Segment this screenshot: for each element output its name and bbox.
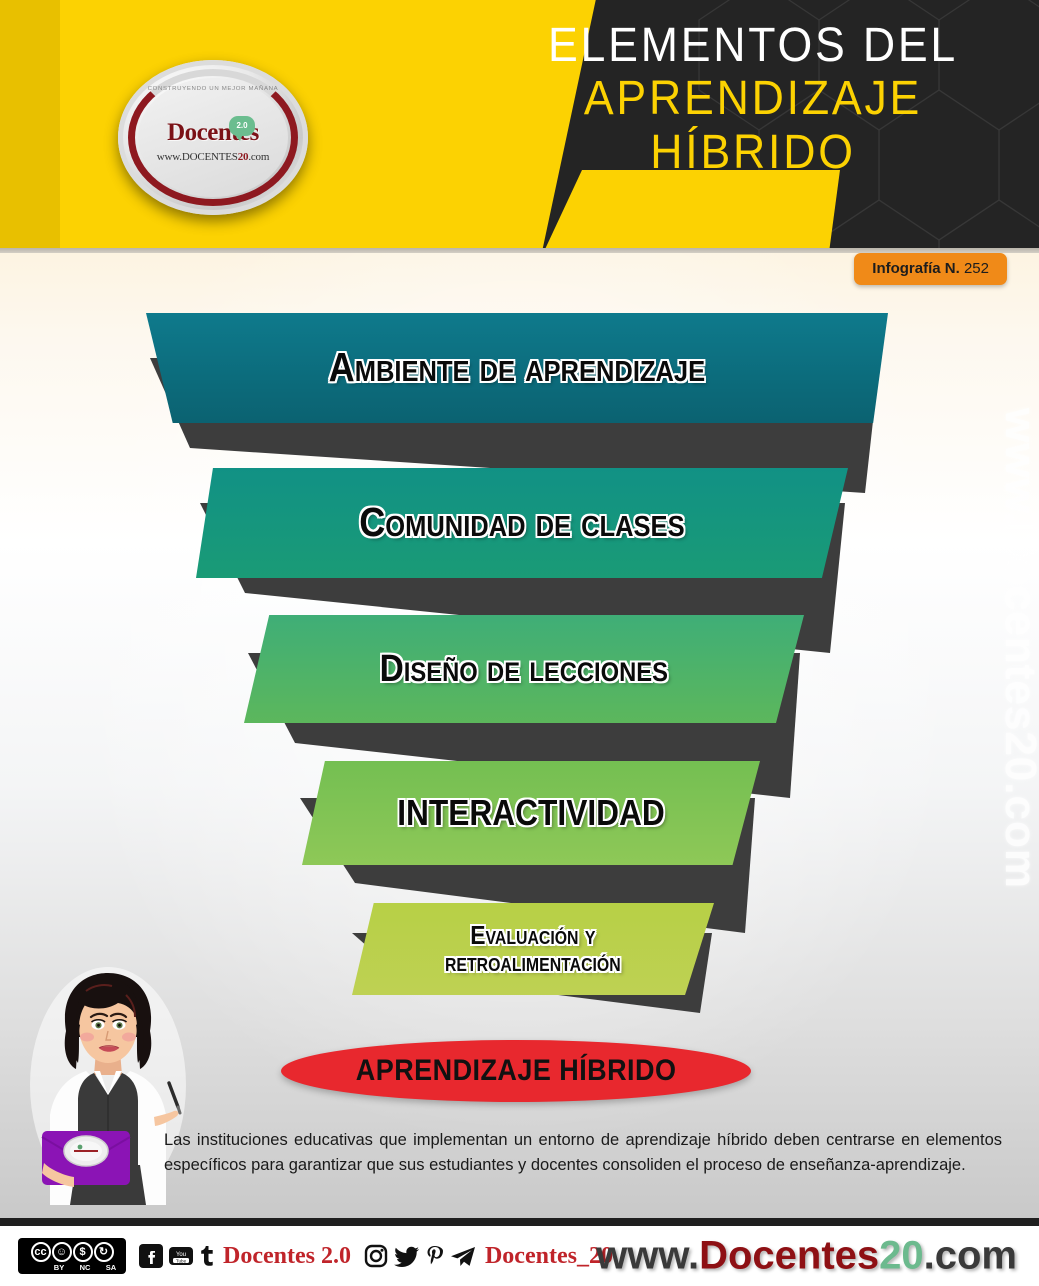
funnel-step-5-label: Evaluación y retroalimentación [445, 922, 621, 975]
cc-label-by: BY [49, 1263, 69, 1272]
logo-url-suffix: .com [248, 151, 269, 163]
footer-divider [0, 1218, 1039, 1226]
footer: cc ☺ $ ↻ BY NC SA YouTube Docentes [0, 1226, 1039, 1286]
infographic-page: CONSTRUYENDO UN MEJOR MAÑANA Docentes 2.… [0, 0, 1039, 1286]
logo-chat-bubble-icon: 2.0 [229, 116, 255, 136]
site-brand: Docentes [699, 1234, 879, 1278]
svg-text:You: You [176, 1252, 186, 1258]
site-www: www. [596, 1234, 699, 1278]
header-banner: CONSTRUYENDO UN MEJOR MAÑANA Docentes 2.… [0, 0, 1039, 248]
logo-inner-disc: CONSTRUYENDO UN MEJOR MAÑANA Docentes 2.… [138, 78, 288, 197]
logo-url-brand: DOCENTES [182, 151, 238, 163]
instagram-icon[interactable] [363, 1243, 389, 1269]
handle-docentes20: Docentes 2.0 [223, 1243, 351, 1270]
facebook-icon[interactable] [138, 1243, 164, 1269]
yellow-shape-edge [0, 0, 60, 248]
funnel-result-ellipse[interactable]: Aprendizaje híbrido [281, 1040, 751, 1102]
title-line-3: HÍBRIDO [511, 126, 995, 180]
telegram-icon[interactable] [449, 1243, 477, 1269]
funnel-step-5-line-1: Evaluación y [470, 920, 595, 950]
logo-url: www.DOCENTES20.com [157, 151, 269, 163]
cc-icon: cc [31, 1242, 51, 1262]
funnel-step-2-label: Comunidad de clases [359, 502, 684, 544]
logo-url-number: 20 [238, 151, 249, 163]
site-number: 20 [879, 1234, 924, 1278]
handle-docentes-20: Docentes_20 [485, 1243, 613, 1270]
funnel-step-5-line-2: retroalimentación [445, 947, 621, 977]
title-line-1: ELEMENTOS DEL [511, 20, 995, 72]
cc-by-icon: ☺ [52, 1242, 72, 1262]
cc-label-nc: NC [75, 1263, 95, 1272]
pinterest-icon[interactable] [425, 1243, 445, 1269]
docentes-logo: CONSTRUYENDO UN MEJOR MAÑANA Docentes 2.… [118, 60, 308, 215]
funnel-step-1[interactable]: Ambiente de aprendizaje [146, 313, 888, 423]
youtube-icon[interactable]: YouTube [168, 1243, 194, 1269]
yellow-shape-small [540, 170, 840, 248]
funnel-step-2[interactable]: Comunidad de clases [196, 468, 848, 578]
funnel-result-label: Aprendizaje híbrido [356, 1054, 677, 1088]
funnel-step-4-label: Interactividad [397, 795, 665, 832]
svg-text:Tube: Tube [176, 1258, 187, 1263]
cc-sa-icon: ↻ [94, 1242, 114, 1262]
cc-label-sa: SA [101, 1263, 121, 1272]
site-tld: .com [924, 1234, 1017, 1278]
social-links: YouTube Docentes 2.0 Docentes_20 [138, 1243, 621, 1270]
funnel-step-5[interactable]: Evaluación y retroalimentación [352, 903, 714, 995]
header-title-block: ELEMENTOS DEL APRENDIZAJE HÍBRIDO [493, 20, 1013, 179]
cc-label-blank [23, 1263, 43, 1272]
logo-arc-text: CONSTRUYENDO UN MEJOR MAÑANA [131, 86, 296, 92]
funnel-step-4[interactable]: Interactividad [302, 761, 760, 865]
funnel-step-3-label: Diseño de lecciones [380, 650, 668, 689]
description-paragraph: Las instituciones educativas que impleme… [164, 1128, 1002, 1178]
funnel-step-3[interactable]: Diseño de lecciones [244, 615, 804, 723]
tumblr-icon[interactable] [198, 1243, 215, 1269]
footer-website[interactable]: www.Docentes20.com [596, 1234, 1017, 1279]
title-line-2: APRENDIZAJE [511, 72, 995, 126]
logo-url-prefix: www. [157, 151, 182, 163]
twitter-icon[interactable] [393, 1243, 421, 1269]
funnel-step-1-label: Ambiente de aprendizaje [329, 347, 705, 389]
cc-nc-icon: $ [73, 1242, 93, 1262]
creative-commons-badge: cc ☺ $ ↻ BY NC SA [18, 1238, 126, 1274]
